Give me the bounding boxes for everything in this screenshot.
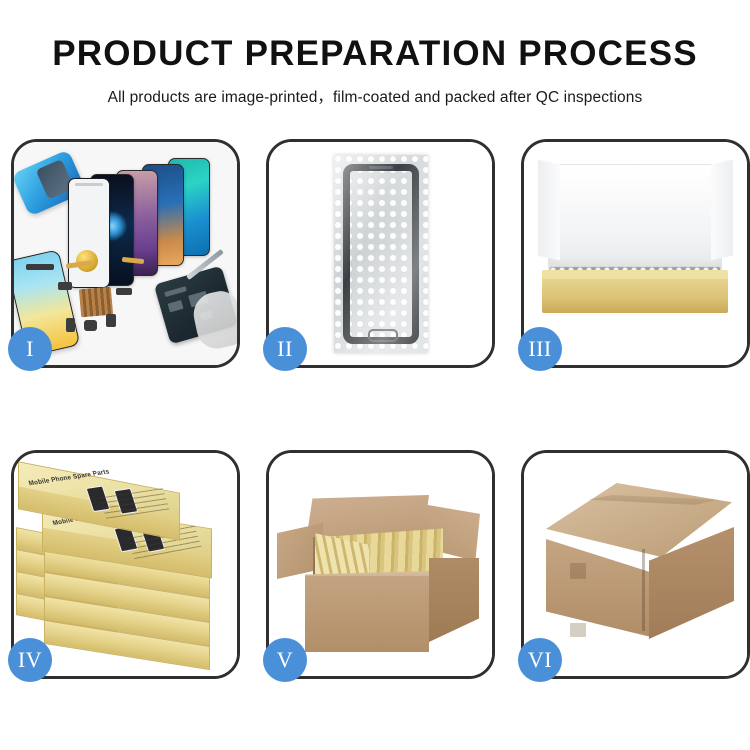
sealed-carton-scene	[524, 453, 747, 676]
carton-corner-seam	[642, 549, 645, 631]
page-subtitle: All products are image-printed，film-coat…	[0, 85, 750, 107]
step-4-image: Mobile Phone Spare Parts Mobile Phone Sp…	[14, 453, 237, 676]
bubble-wrapped-screen-scene	[269, 142, 492, 365]
step-badge-4: IV	[8, 638, 52, 682]
sim-tray-part-icon	[66, 318, 75, 332]
connector-part-icon	[58, 282, 72, 290]
process-step-panel-2: II	[266, 139, 495, 368]
carton-handle-tab-icon	[570, 563, 586, 579]
step-badge-5: V	[263, 638, 307, 682]
step-2-image	[269, 142, 492, 365]
step-badge-2: II	[263, 327, 307, 371]
phones-and-parts-scene	[14, 142, 237, 365]
foam-liner-icon	[548, 164, 722, 270]
process-step-panel-6: VI	[521, 450, 750, 679]
chip-array-part-icon	[79, 287, 113, 318]
foam-flap-right-icon	[711, 160, 733, 261]
step-5-image	[269, 453, 492, 676]
step-6-image	[524, 453, 747, 676]
screen-in-inner-box-scene	[524, 142, 747, 365]
step-badge-1: I	[8, 327, 52, 371]
page-title: PRODUCT PREPARATION PROCESS	[0, 36, 750, 73]
process-step-panel-4: Mobile Phone Spare Parts Mobile Phone Sp…	[11, 450, 240, 679]
bubble-wrap-icon	[334, 155, 428, 353]
process-step-panel-5: V	[266, 450, 495, 679]
step-3-image	[524, 142, 747, 365]
carton-front-face	[546, 539, 651, 637]
page-header: PRODUCT PREPARATION PROCESS All products…	[0, 0, 750, 107]
step-badge-3: III	[518, 327, 562, 371]
process-step-grid: I II III	[11, 139, 739, 679]
step-badge-6: VI	[518, 638, 562, 682]
stacked-boxes-scene: Mobile Phone Spare Parts Mobile Phone Sp…	[14, 453, 237, 676]
carton-side-face	[429, 558, 479, 642]
process-step-panel-3: III	[521, 139, 750, 368]
carton-front-face	[305, 576, 429, 652]
step-1-image	[14, 142, 237, 365]
camera-module-part-icon	[84, 320, 97, 331]
button-part-icon	[106, 314, 116, 327]
open-carton-scene	[269, 453, 492, 676]
connector-part-icon	[116, 288, 132, 295]
speaker-part-icon	[26, 264, 54, 270]
yellow-inner-box-icon	[542, 277, 728, 313]
foam-flap-left-icon	[538, 160, 560, 261]
process-step-panel-1: I	[11, 139, 240, 368]
phone-glass-panel-icon	[343, 164, 419, 344]
carton-handle-tab-icon	[570, 623, 586, 637]
